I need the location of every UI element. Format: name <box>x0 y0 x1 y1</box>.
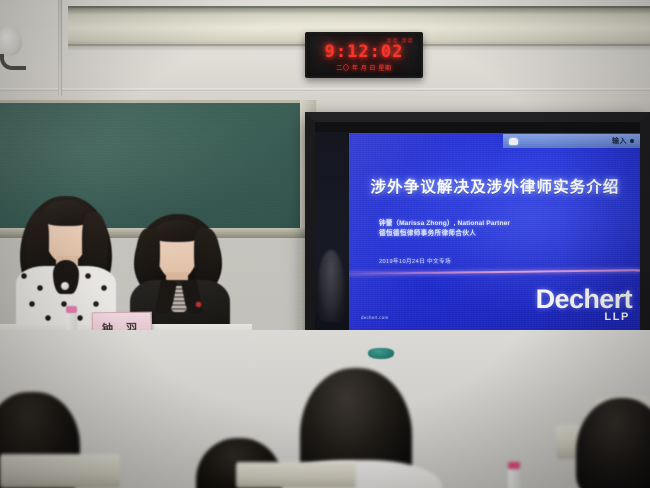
display-bezel <box>305 112 650 352</box>
wall-lamp-icon <box>0 26 22 56</box>
audience-water-bottle <box>508 468 520 488</box>
led-wall-clock: 温度 湿度 9:12:02 二〇 年 月 日 星期 <box>305 32 423 78</box>
presenter-right-lapel-pin <box>196 302 201 307</box>
audience-water-bottle-cap <box>508 462 520 469</box>
student-desk <box>0 454 120 488</box>
clock-date-display: 二〇 年 月 日 星期 <box>307 63 421 72</box>
green-cup <box>368 348 394 359</box>
presenter-left-brooch <box>61 282 69 290</box>
clock-time-display: 9:12:02 <box>307 42 421 62</box>
wall-conduit-pipe <box>58 0 62 96</box>
wall-seam <box>0 88 650 91</box>
lamp-arm <box>0 54 26 70</box>
classroom-photo: 温度 湿度 9:12:02 二〇 年 月 日 星期 涉外争议解决及涉外律师实务介… <box>0 0 650 488</box>
water-bottle-cap <box>66 306 77 313</box>
presentation-display[interactable]: 涉外争议解决及涉外律师实务介绍 钟蕾（Marissa Zhong）, Natio… <box>305 112 650 352</box>
student-desk <box>236 462 356 488</box>
